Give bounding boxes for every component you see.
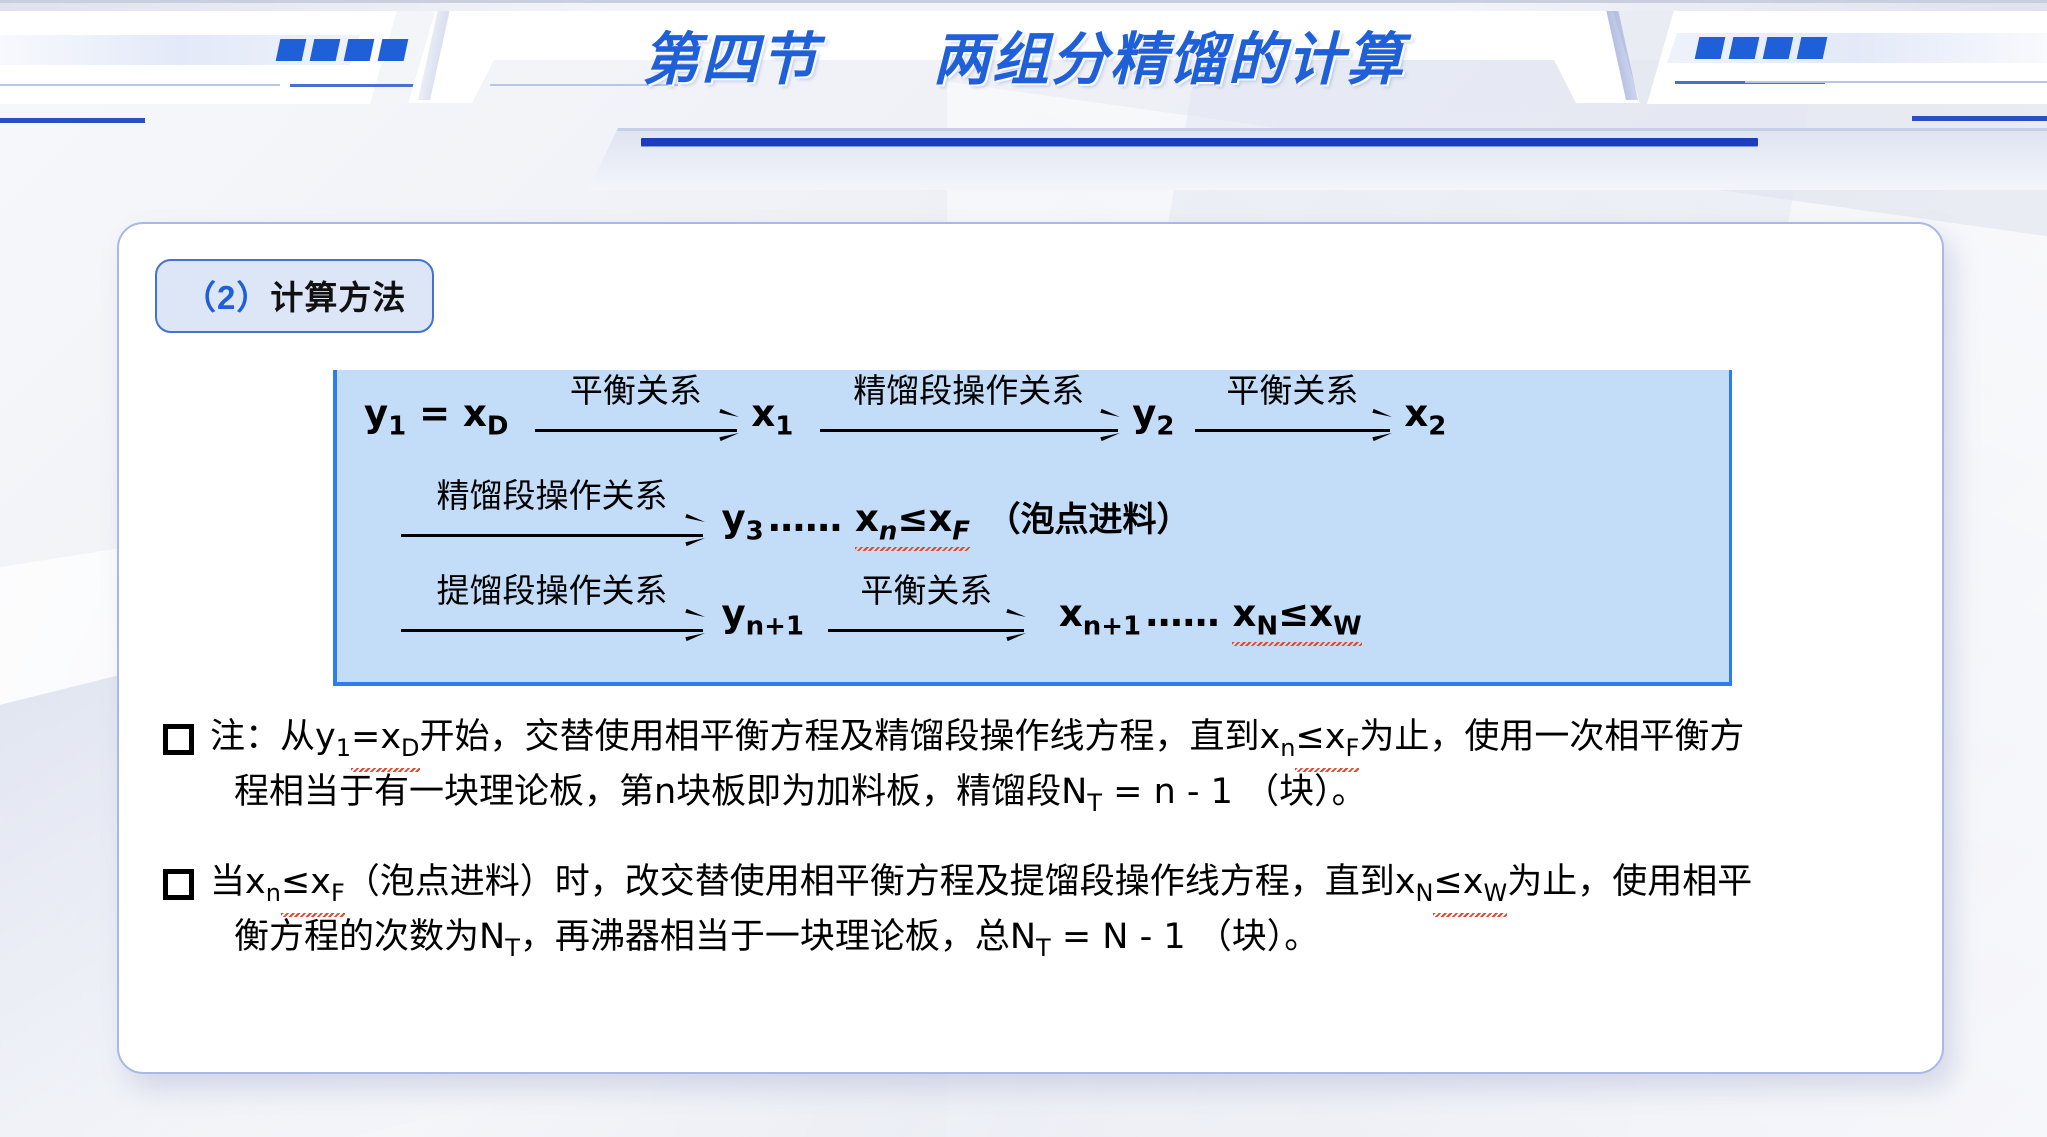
header-bar-right: [1912, 116, 2047, 121]
page-title: 第四节 两组分精馏的计算: [0, 14, 2047, 96]
sub-1: 1: [388, 411, 406, 441]
section-label-number: （2）: [183, 279, 270, 316]
spell-mark-xF: ≤xF: [1295, 712, 1359, 767]
title-underline: [641, 138, 1758, 146]
header-top-strip: [0, 0, 2047, 11]
formula-term-x2: x2: [1404, 392, 1446, 435]
page-title-part2: 两组分精馏的计算: [933, 27, 1405, 93]
formula-arrow-4: 精馏段操作关系: [401, 528, 703, 531]
formula-row-1: y1 = xD 平衡关系 x1 精馏段操作关系 y2 平衡关系 x2: [364, 392, 1446, 441]
spell-mark-xD: =xD: [351, 712, 420, 767]
header-bar-left: [0, 118, 145, 123]
bullet-note-2-line2: 衡方程的次数为NT，再沸器相当于一块理论板，总NT = N - 1 （块）。: [234, 912, 1903, 967]
formula-term-y2: y2: [1132, 392, 1174, 435]
formula-dots-2: ……: [768, 497, 855, 540]
formula-term-y3: y3: [721, 497, 763, 540]
spell-mark-xW: ≤xW: [1433, 857, 1507, 912]
bullet-note-2-body: 当xn≤xF（泡点进料）时，改交替使用相平衡方程及提馏段操作线方程，直到xN≤x…: [210, 857, 1903, 966]
formula-arrow-3-label: 平衡关系: [1226, 364, 1358, 412]
bullet-note-1-line2: 程相当于有一块理论板，第n块板即为加料板，精馏段NT = n - 1 （块）。: [234, 767, 1903, 822]
formula-cond-xN-xW: xN≤xW: [1232, 592, 1361, 641]
formula-term-xn1: xn+1: [1059, 592, 1141, 635]
slide-root: 第四节 两组分精馏的计算 （2）计算方法 y1 = xD 平衡关系 x1 精馏段…: [0, 0, 2047, 1137]
formula-arrow-5: 提馏段操作关系: [401, 623, 703, 626]
formula-arrow-1-label: 平衡关系: [570, 364, 702, 412]
formula-arrow-3: 平衡关系: [1195, 423, 1390, 426]
formula-arrow-2-label: 精馏段操作关系: [853, 364, 1084, 412]
bullet-square-icon: [163, 724, 194, 755]
formula-term-x1: x1: [751, 392, 793, 435]
slide-header: 第四节 两组分精馏的计算: [0, 0, 2047, 140]
formula-row-2: 精馏段操作关系 y3 …… xn≤xF （泡点进料）: [401, 492, 1191, 546]
bullet-note-1-body: 注：从y1=xD开始，交替使用相平衡方程及精馏段操作线方程，直到xn≤xF为止，…: [210, 712, 1903, 821]
formula-dots-3: ……: [1146, 592, 1233, 635]
formula-arrow-4-label: 精馏段操作关系: [437, 469, 668, 517]
sub-D: D: [487, 411, 509, 441]
formula-term-y1xD: y1 = xD: [364, 392, 508, 435]
spell-mark-xF-2: ≤xF: [281, 857, 345, 912]
bullet-square-icon: [163, 869, 194, 900]
formula-note-feed: （泡点进料）: [987, 500, 1191, 540]
formula-arrow-2: 精馏段操作关系: [820, 423, 1118, 426]
page-title-part1: 第四节: [642, 27, 819, 93]
formula-arrow-1: 平衡关系: [535, 423, 737, 426]
formula-cond-xn-xF: xn≤xF: [855, 497, 970, 546]
section-label-pill: （2）计算方法: [155, 259, 434, 333]
formula-diagram-box: y1 = xD 平衡关系 x1 精馏段操作关系 y2 平衡关系 x2 精馏段操作…: [333, 370, 1732, 686]
list-item: 当xn≤xF（泡点进料）时，改交替使用相平衡方程及提馏段操作线方程，直到xN≤x…: [163, 857, 1903, 966]
formula-arrow-5-label: 提馏段操作关系: [437, 564, 668, 612]
formula-row-3: 提馏段操作关系 yn+1 平衡关系 xn+1 …… xN≤xW: [401, 592, 1362, 641]
formula-arrow-6: 平衡关系: [828, 623, 1024, 626]
list-item: 注：从y1=xD开始，交替使用相平衡方程及精馏段操作线方程，直到xn≤xF为止，…: [163, 712, 1903, 821]
formula-arrow-6-label: 平衡关系: [860, 564, 992, 612]
formula-term-yn1: yn+1: [721, 592, 804, 635]
notes-list: 注：从y1=xD开始，交替使用相平衡方程及精馏段操作线方程，直到xn≤xF为止，…: [163, 712, 1903, 1002]
section-label-text: 计算方法: [270, 279, 406, 316]
